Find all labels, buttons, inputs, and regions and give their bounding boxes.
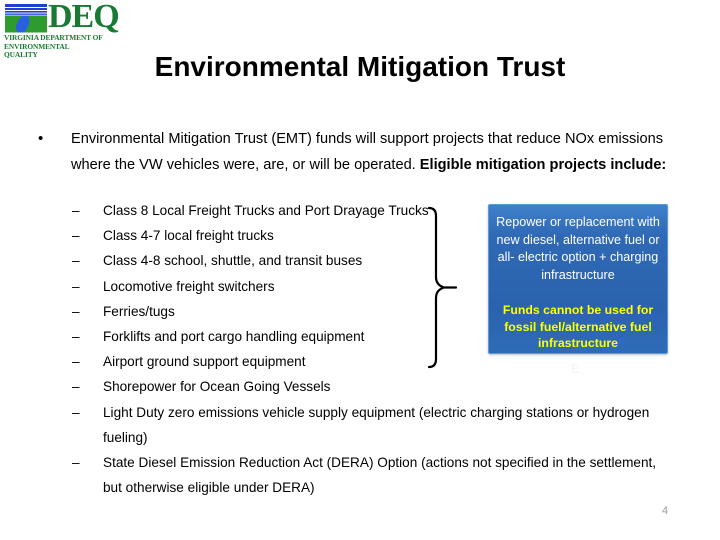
dash-marker-icon: –: [72, 400, 80, 425]
slide-canvas: DEQ VIRGINIA DEPARTMENT OF ENVIRONMENTAL…: [0, 0, 720, 540]
list-item: – State Diesel Emission Reduction Act (D…: [72, 450, 672, 500]
dash-marker-icon: –: [72, 450, 80, 475]
main-bullet-text-bold: Eligible mitigation projects include:: [420, 157, 667, 173]
dash-marker-icon: –: [72, 198, 80, 223]
list-item: – Shorepower for Ocean Going Vessels: [72, 374, 672, 399]
list-item-label: Light Duty zero emissions vehicle supply…: [103, 400, 672, 450]
callout-primary-text: Repower or replacement with new diesel, …: [495, 214, 661, 284]
page-number: 4: [662, 505, 668, 518]
list-item: – Light Duty zero emissions vehicle supp…: [72, 400, 672, 450]
main-bullet-paragraph: • Environmental Mitigation Trust (EMT) f…: [38, 126, 678, 178]
dash-marker-icon: –: [72, 248, 80, 273]
page-title: Environmental Mitigation Trust: [60, 50, 660, 84]
deq-wordmark: DEQ: [48, 0, 119, 34]
deq-logo-mark-icon: [4, 3, 48, 33]
faint-artifact: E: [571, 362, 580, 378]
dash-marker-icon: –: [72, 324, 80, 349]
dash-marker-icon: –: [72, 374, 80, 399]
bullet-marker-icon: •: [38, 127, 43, 151]
dash-marker-icon: –: [72, 223, 80, 248]
list-item-label: Shorepower for Ocean Going Vessels: [103, 374, 672, 399]
callout-warning-text: Funds cannot be used for fossil fuel/alt…: [495, 302, 661, 352]
main-bullet-text: Environmental Mitigation Trust (EMT) fun…: [71, 126, 678, 178]
dash-marker-icon: –: [72, 299, 80, 324]
deq-logo: DEQ VIRGINIA DEPARTMENT OF ENVIRONMENTAL…: [4, 3, 104, 51]
dash-marker-icon: –: [72, 274, 80, 299]
dash-marker-icon: –: [72, 349, 80, 374]
callout-box: Repower or replacement with new diesel, …: [488, 204, 668, 354]
list-item-label: State Diesel Emission Reduction Act (DER…: [103, 450, 672, 500]
curly-brace-icon: [425, 205, 465, 370]
